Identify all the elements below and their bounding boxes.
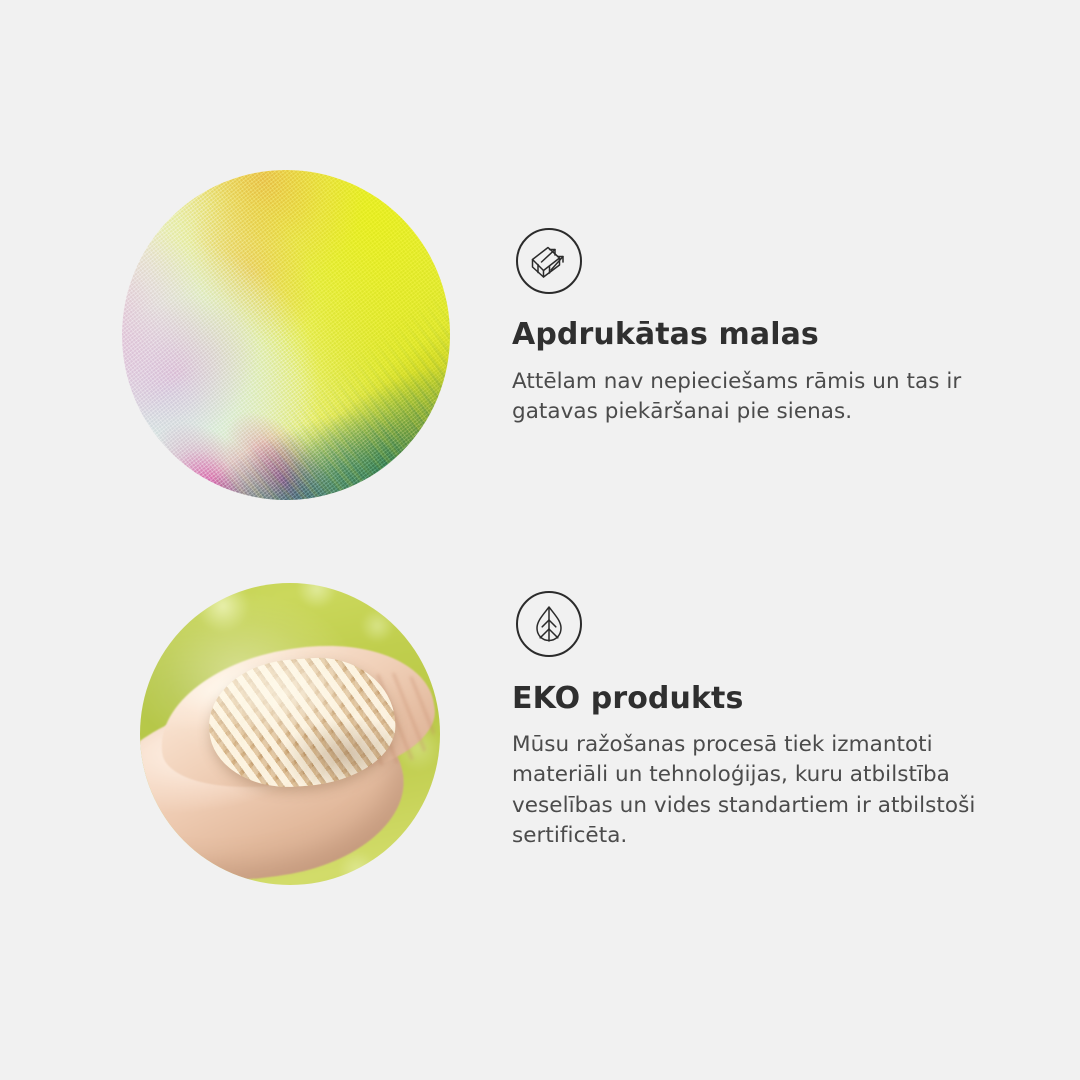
canvas-wrap [122, 170, 450, 500]
printed-edges-icon [528, 240, 570, 282]
feature-title: EKO produkts [512, 682, 1012, 717]
feature-highlights-page: Apdrukātas malas Attēlam nav nepieciešam… [0, 0, 1080, 1080]
icon-circle-border [516, 591, 582, 657]
printed-edges-text-block: Apdrukātas malas Attēlam nav nepieciešam… [512, 318, 1012, 428]
icon-circle-border [516, 228, 582, 294]
wood-chips-photo [140, 583, 440, 885]
feature-description: Attēlam nav nepieciešams rāmis un tas ir… [512, 367, 1012, 428]
eco-icon-container [516, 591, 582, 657]
feature-description: Mūsu ražošanas procesā tiek izmantoti ma… [512, 730, 1012, 852]
canvas-corner-photo [122, 170, 450, 500]
leaf-icon [528, 603, 570, 645]
canvas-face-shading [122, 170, 450, 500]
canvas-panel [122, 170, 450, 500]
wood-chips-pile [205, 652, 399, 791]
eco-text-block: EKO produkts Mūsu ražošanas procesā tiek… [512, 682, 1012, 852]
printed-edges-icon-container [516, 228, 582, 294]
feature-title: Apdrukātas malas [512, 318, 1012, 353]
